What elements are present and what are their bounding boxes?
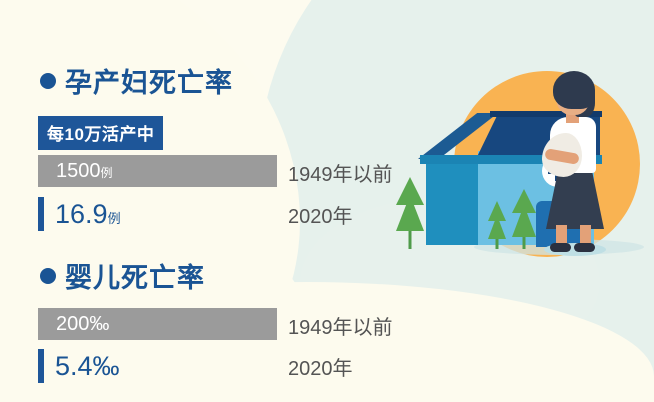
bullet-dot-icon [40,73,56,89]
blue-tick-marker [38,349,44,383]
bar-infant-2020: 5.4‰ [38,349,120,383]
bar-maternal-1949: 1500例 [38,155,277,187]
section-title-text: 婴儿死亡率 [65,256,205,295]
infographic-canvas: 孕产妇死亡率 每10万活产中 1500例 16.9例 1949年以前 2020年… [0,0,654,402]
year-label-maternal-2020: 2020年 [288,200,353,229]
blue-value-unit: 例 [108,211,121,226]
section-title-text: 孕产妇死亡率 [65,61,233,100]
unit-badge-per-100k-live-births: 每10万活产中 [38,116,163,150]
bar-value-label: 200‰ [38,313,109,336]
blue-value-number: 16.9 [55,199,108,229]
blue-tick-marker [38,197,44,231]
section-title-maternal-mortality: 孕产妇死亡率 [40,61,233,100]
year-label-infant-2020: 2020年 [288,352,353,381]
bar-value-unit: 例 [101,166,113,180]
bar-value-number: 1500 [56,160,101,182]
bar-infant-1949: 200‰ [38,308,277,340]
year-label-infant-1949: 1949年以前 [288,311,393,340]
blue-value-label: 5.4‰ [55,351,120,382]
bar-value-number: 200‰ [56,313,109,335]
section-title-infant-mortality: 婴儿死亡率 [40,256,205,295]
blue-value-number: 5.4‰ [55,351,120,381]
year-label-maternal-1949: 1949年以前 [288,158,393,187]
bullet-dot-icon [40,268,56,284]
blue-value-label: 16.9例 [55,199,121,230]
bar-maternal-2020: 16.9例 [38,197,121,231]
content-layer: 孕产妇死亡率 每10万活产中 1500例 16.9例 1949年以前 2020年… [0,0,654,402]
bar-value-label: 1500例 [38,160,113,183]
